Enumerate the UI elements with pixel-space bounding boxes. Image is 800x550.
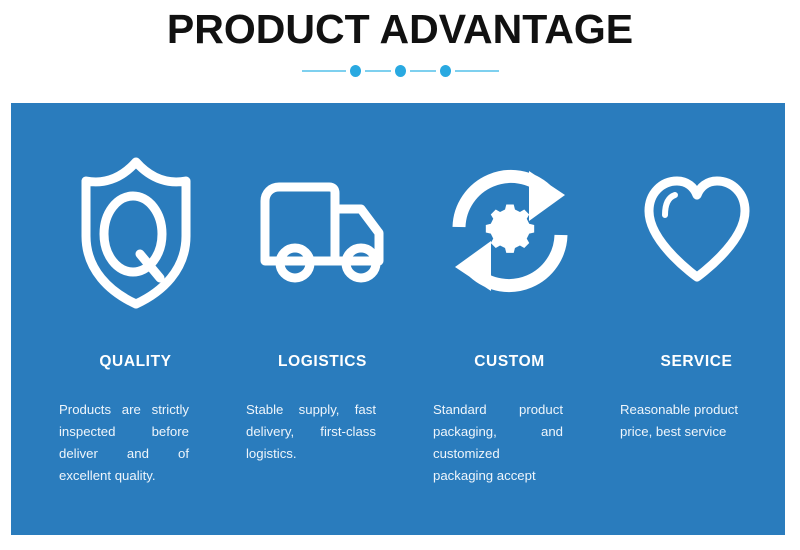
advantage-column-custom: CUSTOM Standard product packaging, and c… bbox=[422, 103, 597, 535]
advantage-column-logistics: LOGISTICS Stable supply, fast delivery, … bbox=[235, 103, 410, 535]
advantage-body-logistics: Stable supply, fast delivery, first-clas… bbox=[246, 399, 376, 465]
advantage-body-service: Reasonable product price, best service bbox=[620, 399, 750, 443]
advantage-body-quality: Products are strictly inspected before d… bbox=[59, 399, 189, 487]
advantage-heading-custom: CUSTOM bbox=[422, 353, 597, 371]
advantage-heading-service: SERVICE bbox=[609, 353, 784, 371]
cycle-gear-icon bbox=[422, 151, 597, 311]
advantage-heading-quality: QUALITY bbox=[48, 353, 223, 371]
divider-line-right bbox=[455, 70, 499, 72]
header: PRODUCT ADVANTAGE bbox=[0, 0, 800, 103]
divider-dot-3 bbox=[440, 65, 451, 77]
advantage-column-quality: QUALITY Products are strictly inspected … bbox=[48, 103, 223, 535]
advantage-heading-logistics: LOGISTICS bbox=[235, 353, 410, 371]
advantage-panel: QUALITY Products are strictly inspected … bbox=[11, 103, 785, 535]
shield-q-icon bbox=[48, 151, 223, 311]
divider-dot-2 bbox=[395, 65, 406, 77]
divider-line-mid-left bbox=[365, 70, 391, 72]
delivery-truck-icon bbox=[235, 151, 410, 311]
decorative-divider bbox=[0, 60, 800, 82]
divider-line-left bbox=[302, 70, 346, 72]
divider-dot-1 bbox=[350, 65, 361, 77]
advantage-body-custom: Standard product packaging, and customiz… bbox=[433, 399, 563, 487]
heart-icon bbox=[609, 151, 784, 311]
divider-line-mid-right bbox=[410, 70, 436, 72]
page-title: PRODUCT ADVANTAGE bbox=[0, 5, 800, 53]
advantage-column-service: SERVICE Reasonable product price, best s… bbox=[609, 103, 784, 535]
